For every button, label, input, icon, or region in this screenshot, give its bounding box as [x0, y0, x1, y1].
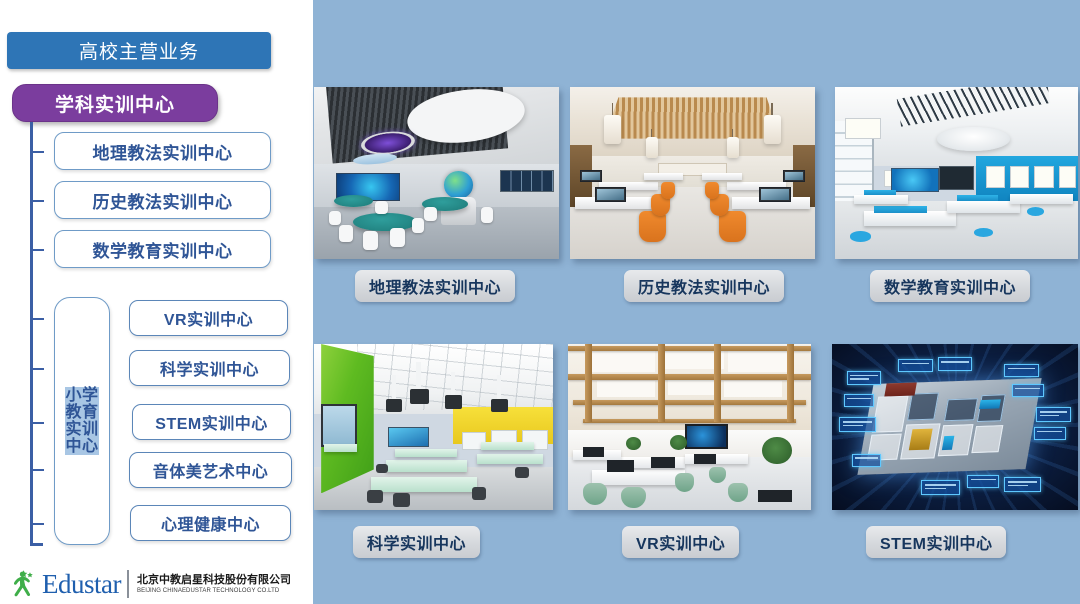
company-name-en: BEIJING CHINAEDUSTAR TECHNOLOGY CO.LTD [137, 587, 291, 595]
group-label-line: 教育 [65, 404, 98, 421]
tree-node-label: 历史教法实训中心 [93, 188, 233, 213]
group-label-line: 实训 [65, 421, 98, 438]
tree-tick [30, 422, 44, 424]
group-vertical-label: 小学 教育 实训 中心 [65, 387, 98, 455]
gallery-caption-stem: STEM实训中心 [866, 526, 1006, 558]
slide-root: 高校主营业务 学科实训中心 地理教法实训中心 历史教法实训中心 数学教育实训中心… [0, 0, 1080, 604]
tree-trunk-line [30, 122, 33, 544]
tree-node-label: 地理教法实训中心 [93, 139, 233, 164]
caption-text: STEM实训中心 [880, 530, 992, 554]
tree-tick [30, 368, 44, 370]
scene-vr-center [568, 344, 811, 510]
caption-text: VR实训中心 [636, 530, 725, 554]
tree-tick [30, 318, 44, 320]
gallery-image-vr[interactable] [568, 344, 811, 510]
group-label-line: 小学 [65, 387, 98, 404]
page-title-bar: 高校主营业务 [7, 32, 271, 69]
scene-history-classroom [570, 87, 815, 259]
edustar-wordmark: Edustar [42, 571, 121, 598]
scene-math-classroom [835, 87, 1078, 259]
gallery-image-history[interactable] [570, 87, 815, 259]
tree-node-label: VR实训中心 [164, 306, 253, 330]
caption-text: 科学实训中心 [367, 530, 466, 554]
gallery-image-stem[interactable] [832, 344, 1078, 510]
tree-node-vr[interactable]: VR实训中心 [129, 300, 288, 336]
category-badge-label: 学科实训中心 [55, 90, 175, 117]
caption-text: 数学教育实训中心 [884, 274, 1016, 298]
edustar-figure-icon [6, 567, 40, 601]
tree-node-label: 数学教育实训中心 [93, 237, 233, 262]
scene-science-lab [314, 344, 553, 510]
group-label-line: 中心 [65, 438, 98, 455]
gallery-image-math[interactable] [835, 87, 1078, 259]
tree-node-stem[interactable]: STEM实训中心 [132, 404, 291, 440]
tree-trunk-foot [30, 543, 43, 546]
gallery-image-science[interactable] [314, 344, 553, 510]
tree-tick [30, 151, 44, 153]
company-logo: Edustar 北京中教启星科技股份有限公司 BEIJING CHINAEDUS… [6, 567, 291, 601]
company-name-cn: 北京中教启星科技股份有限公司 [137, 574, 291, 587]
tree-node-science[interactable]: 科学实训中心 [129, 350, 290, 386]
logo-divider [127, 570, 129, 598]
panel-divider [305, 0, 313, 604]
gallery-caption-geography: 地理教法实训中心 [355, 270, 515, 302]
tree-tick [30, 523, 44, 525]
tree-tick [30, 469, 44, 471]
tree-node-label: 心理健康中心 [161, 511, 260, 535]
tree-node-mental-health[interactable]: 心理健康中心 [130, 505, 291, 541]
gallery-caption-history: 历史教法实训中心 [624, 270, 784, 302]
caption-text: 地理教法实训中心 [369, 274, 501, 298]
tree-node-history[interactable]: 历史教法实训中心 [54, 181, 271, 219]
page-title: 高校主营业务 [79, 37, 199, 64]
gallery-image-geography[interactable] [314, 87, 559, 259]
tree-node-label: STEM实训中心 [155, 410, 267, 434]
tree-node-arts[interactable]: 音体美艺术中心 [129, 452, 292, 488]
scene-geography-classroom [314, 87, 559, 259]
caption-text: 历史教法实训中心 [638, 274, 770, 298]
tree-node-geography[interactable]: 地理教法实训中心 [54, 132, 271, 170]
gallery-caption-science: 科学实训中心 [353, 526, 480, 558]
company-name-block: 北京中教启星科技股份有限公司 BEIJING CHINAEDUSTAR TECH… [137, 574, 291, 595]
scene-stem-floorplan [832, 344, 1078, 510]
tree-tick [30, 249, 44, 251]
gallery-caption-vr: VR实训中心 [622, 526, 739, 558]
gallery-caption-math: 数学教育实训中心 [870, 270, 1030, 302]
group-capsule-primary-education: 小学 教育 实训 中心 [54, 297, 110, 545]
tree-node-label: 科学实训中心 [160, 356, 259, 380]
tree-node-math[interactable]: 数学教育实训中心 [54, 230, 271, 268]
category-badge[interactable]: 学科实训中心 [12, 84, 218, 122]
tree-tick [30, 200, 44, 202]
tree-node-label: 音体美艺术中心 [153, 458, 269, 482]
